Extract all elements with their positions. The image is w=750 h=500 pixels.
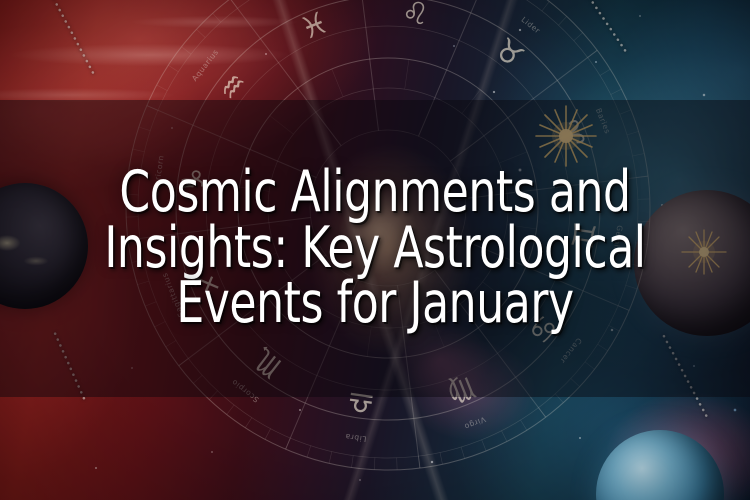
page-title: Cosmic Alignments and Insights: Key Astr… [73,165,677,333]
zodiac-label-libra: Libra [344,432,367,444]
dotted-arc-1: •••••••••••••••• [41,0,98,79]
zodiac-label-taurus: Lider [519,15,542,36]
zodiac-label-pisces: Pisces [287,0,315,2]
zodiac-label-aquarius: Aquarius [190,48,220,83]
zodiac-glyph-leo: ♌ [400,0,432,33]
zodiac-glyph-taurus: ♉ [487,31,530,75]
zodiac-glyph-pisces: ♓ [296,5,334,48]
title-block: Cosmic Alignments and Insights: Key Astr… [0,100,750,397]
zodiac-label-virgo: Virgo [463,415,487,432]
astrology-banner: ♌♉♈♊♋♍♎♏♐♑♒♓ LeonLiderBariesGeminiCancer… [0,0,750,500]
